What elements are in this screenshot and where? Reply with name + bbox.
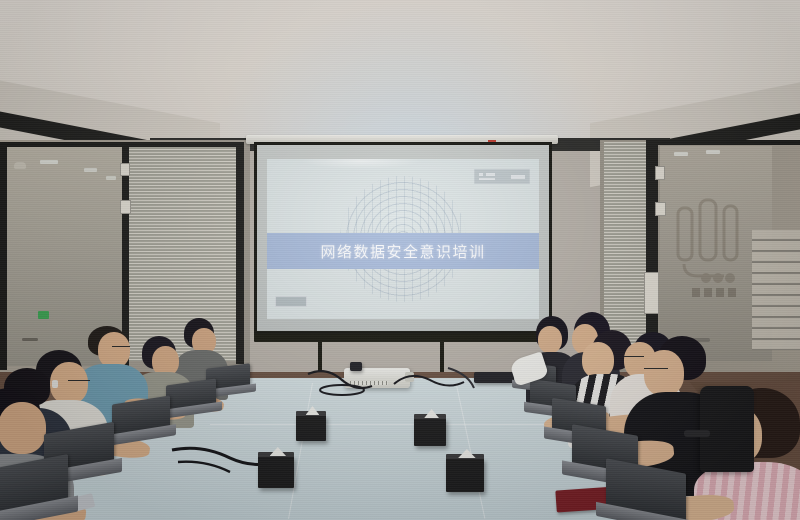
- reflected-ceiling-light: [106, 176, 116, 180]
- head: [644, 350, 684, 396]
- head: [0, 402, 46, 454]
- tissue-box: [446, 458, 484, 492]
- projection-screen-bottom-bar: [254, 334, 552, 342]
- background-shelving-unit: [752, 230, 800, 350]
- mullion-left-a: [0, 142, 7, 370]
- head: [582, 342, 614, 378]
- head: [98, 332, 130, 368]
- slide-footer-chip: [275, 296, 307, 307]
- reflected-ceiling-light: [84, 168, 97, 172]
- wall-switch-panel-right-2[interactable]: [655, 202, 666, 216]
- eyeglasses: [68, 380, 90, 381]
- eyeglasses: [112, 346, 130, 347]
- door-handle-left: [22, 338, 38, 341]
- office-chair[interactable]: [700, 386, 754, 472]
- wall-switch-panel-right[interactable]: [655, 166, 665, 180]
- eyeglasses: [644, 368, 668, 369]
- intercom-panel-right[interactable]: [644, 272, 659, 314]
- security-camera-icon: [14, 162, 26, 169]
- projection-screen-surface: 网络数据安全意识培训: [257, 145, 549, 331]
- projector-glare: [301, 159, 421, 169]
- ceiling-projector-glow: [200, 0, 620, 150]
- wall-graphic-reflection: [672, 190, 758, 310]
- eyeglasses: [624, 356, 644, 357]
- reflected-ceiling-light: [674, 152, 688, 156]
- tissue-box: [296, 415, 326, 441]
- exit-sign-icon: [38, 311, 49, 319]
- mullion-right-top: [646, 140, 800, 145]
- mullion-left-c: [236, 142, 244, 364]
- slide-title-band: 网络数据安全意识培训: [267, 233, 539, 269]
- reflected-ceiling-light: [40, 160, 58, 164]
- head: [538, 326, 562, 353]
- tissue-box: [258, 456, 294, 488]
- table-seam: [210, 424, 590, 425]
- earbud-icon: [52, 380, 58, 388]
- wall-switch-panel-left[interactable]: [120, 163, 130, 176]
- chair-armrest: [684, 430, 710, 437]
- reflected-ceiling-light: [706, 150, 720, 154]
- slide-title: 网络数据安全意识培训: [320, 241, 485, 262]
- tissue-box: [414, 418, 446, 446]
- conference-room-photo: 网络数据安全意识培训: [0, 0, 800, 520]
- presentation-slide: 网络数据安全意识培训: [267, 159, 539, 319]
- table-cables: [298, 358, 548, 408]
- slide-logo-placeholder: [474, 169, 530, 184]
- mullion-left-top: [0, 142, 244, 147]
- wall-switch-panel-left-2[interactable]: [120, 200, 131, 214]
- window-blinds-left: [128, 146, 238, 361]
